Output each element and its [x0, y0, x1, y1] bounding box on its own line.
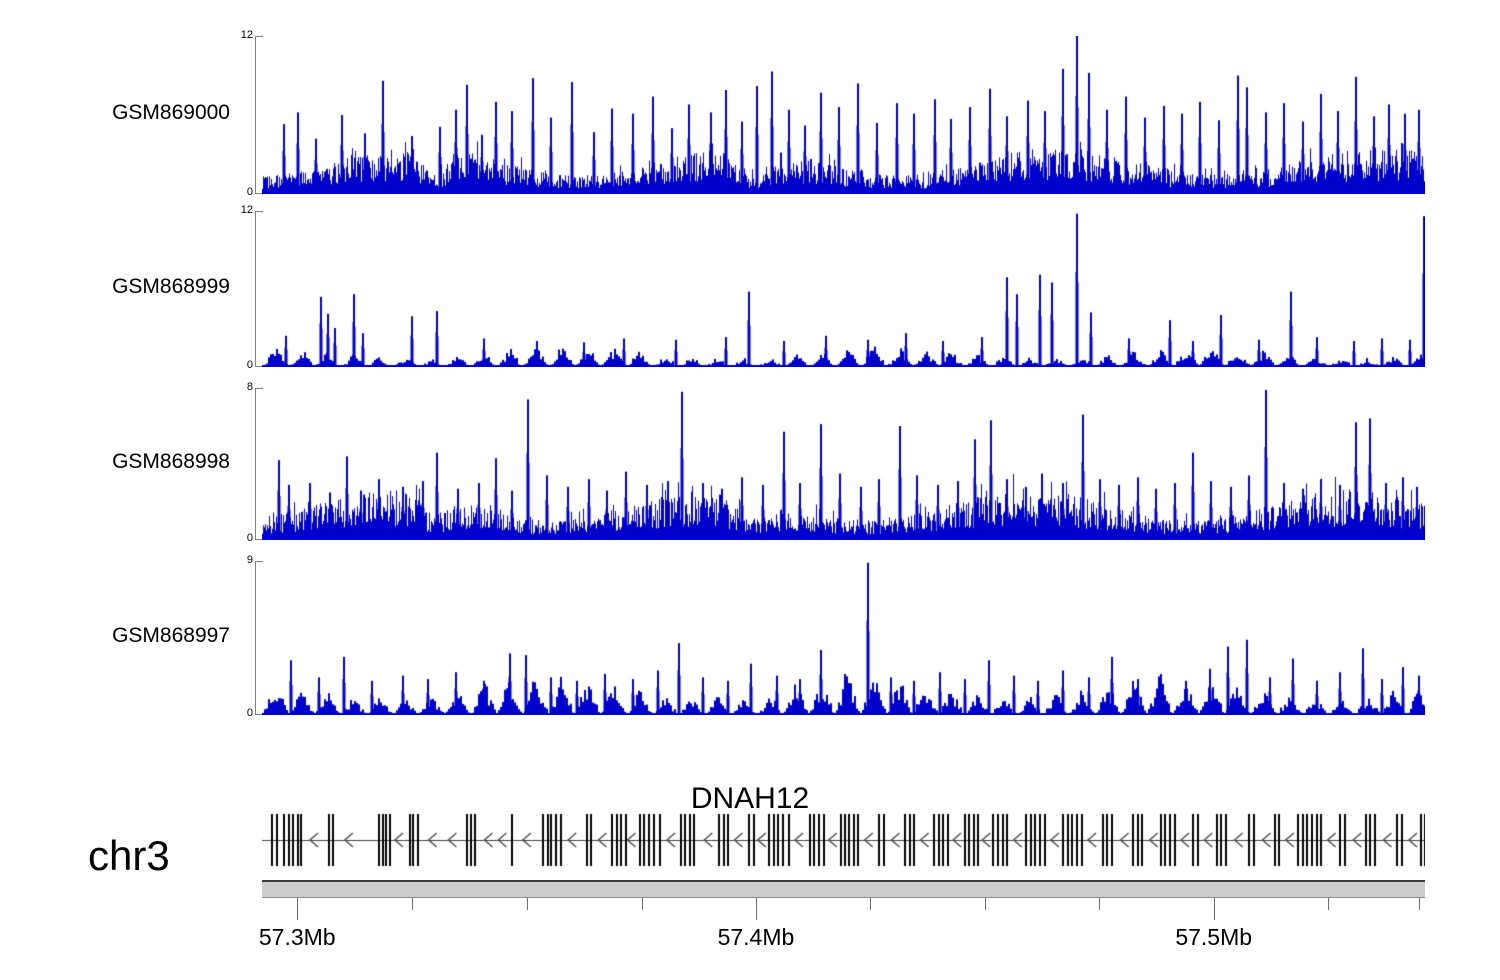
gene-name-label: DNAH12: [0, 782, 1500, 816]
track-sample-label: GSM868999: [0, 275, 230, 299]
coverage-track: GSM869000120: [0, 36, 1500, 194]
gene-model[interactable]: [262, 812, 1425, 868]
axis-coordinate-label: 57.3Mb: [259, 924, 336, 951]
genomic-coordinate-axis: 57.3Mb57.4Mb57.5Mb: [262, 898, 1425, 958]
coverage-signal-plot[interactable]: [262, 36, 1425, 194]
genome-browser-figure: GSM869000120GSM868999120GSM86899880GSM86…: [0, 0, 1500, 980]
track-sample-label: GSM868997: [0, 624, 230, 648]
axis-minor-tick: [985, 898, 986, 910]
coverage-signal-canvas: [262, 211, 1425, 367]
y-axis-max-label: 8: [247, 382, 253, 393]
y-axis-min-label: 0: [247, 533, 253, 544]
track-sample-label: GSM869000: [0, 101, 230, 125]
coverage-signal-canvas: [262, 388, 1425, 540]
axis-coordinate-label: 57.5Mb: [1175, 924, 1252, 951]
coverage-signal-plot[interactable]: [262, 561, 1425, 715]
y-axis-spine: [255, 211, 256, 367]
axis-minor-tick: [1419, 898, 1420, 910]
y-axis-min-label: 0: [247, 708, 253, 719]
axis-minor-tick: [1099, 898, 1100, 910]
y-axis-spine: [255, 561, 256, 715]
axis-minor-tick: [527, 898, 528, 910]
y-axis-max-label: 9: [247, 555, 253, 566]
chromosome-label: chr3: [88, 832, 170, 880]
coverage-signal-canvas: [262, 561, 1425, 715]
coverage-track: GSM86899880: [0, 388, 1500, 540]
coverage-signal-canvas: [262, 36, 1425, 194]
gene-annotation-track: DNAH12: [0, 782, 1500, 868]
axis-major-tick: [297, 898, 298, 920]
coverage-signal-plot[interactable]: [262, 211, 1425, 367]
chromosome-ideogram-bar[interactable]: [262, 880, 1425, 898]
axis-major-tick: [1214, 898, 1215, 920]
coverage-signal-plot[interactable]: [262, 388, 1425, 540]
y-axis-spine: [255, 36, 256, 194]
axis-minor-tick: [642, 898, 643, 910]
axis-minor-tick: [1328, 898, 1329, 910]
axis-major-tick: [756, 898, 757, 920]
y-axis-spine: [255, 388, 256, 540]
axis-coordinate-label: 57.4Mb: [718, 924, 795, 951]
coverage-track: GSM868999120: [0, 211, 1500, 367]
y-axis-min-label: 0: [247, 187, 253, 198]
axis-minor-tick: [412, 898, 413, 910]
track-sample-label: GSM868998: [0, 450, 230, 474]
coverage-track: GSM86899790: [0, 561, 1500, 715]
y-axis-max-label: 12: [241, 205, 253, 216]
y-axis-max-label: 12: [241, 30, 253, 41]
axis-minor-tick: [870, 898, 871, 910]
y-axis-min-label: 0: [247, 360, 253, 371]
gene-model-canvas: [262, 812, 1425, 868]
